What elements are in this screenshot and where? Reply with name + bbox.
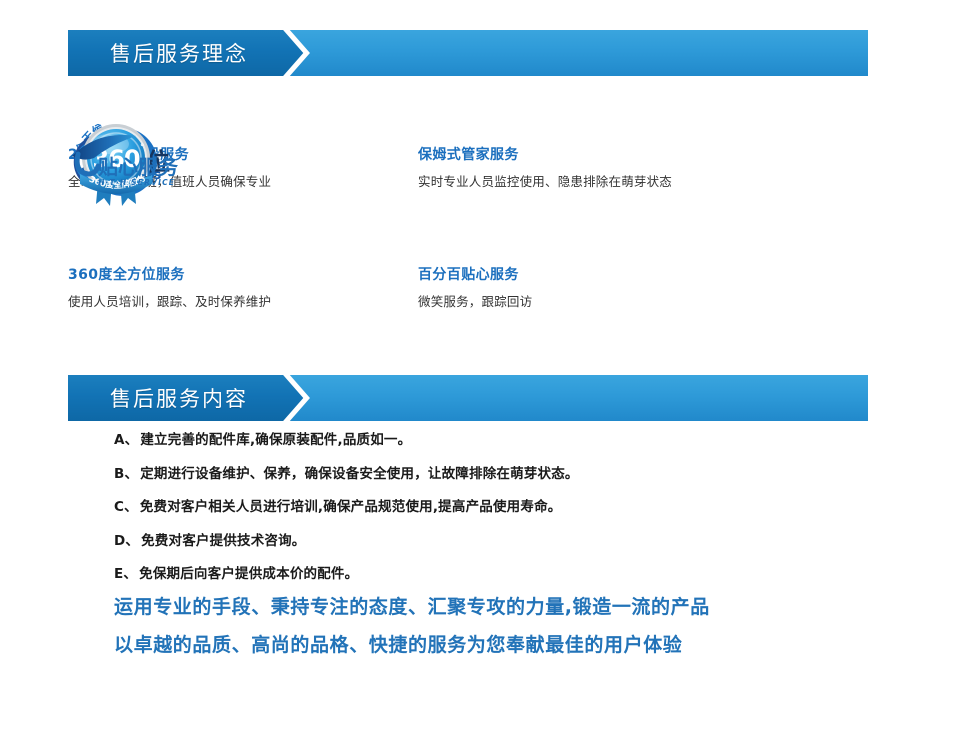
service-content-list: A、建立完善的配件库,确保原装配件,品质如一。 B、定期进行设备维护、保养，确保…: [114, 434, 814, 602]
slogan-line-1: 运用专业的手段、秉持专注的态度、汇聚专攻的力量,锻造一流的产品: [114, 598, 854, 617]
banner-left-panel: 售后服务内容: [68, 375, 268, 421]
list-item-marker: E、: [114, 566, 137, 582]
list-item: D、免费对客户提供技术咨询。: [114, 535, 814, 549]
list-item-text: 免费对客户提供技术咨询。: [141, 533, 305, 549]
list-item-marker: C、: [114, 499, 138, 515]
list-item: A、建立完善的配件库,确保原装配件,品质如一。: [114, 434, 814, 448]
list-item: C、免费对客户相关人员进行培训,确保产品规范使用,提高产品使用寿命。: [114, 501, 814, 515]
svg-text:H·T·H SERVICE: H·T·H SERVICE: [98, 178, 175, 187]
list-item: B、定期进行设备维护、保养，确保设备安全使用，让故障排除在萌芽状态。: [114, 468, 814, 482]
banner-right-panel: [310, 30, 868, 76]
logo-word: 贴心服务: [98, 155, 179, 179]
list-item-text: 建立完善的配件库,确保原装配件,品质如一。: [140, 432, 411, 448]
feature-description: 微笑服务，跟踪回访: [418, 291, 532, 310]
list-item-text: 免保期后向客户提供成本价的配件。: [139, 566, 358, 582]
feature-text-block: 保姆式管家服务 实时专业人员监控使用、隐患排除在萌芽状态: [418, 142, 672, 190]
chevron-right-icon: [268, 30, 310, 76]
feature-text-block: 360度全方位服务 使用人员培训，跟踪、及时保养维护: [68, 262, 271, 310]
feature-item: 全方位 保姆式管家服务 实时专业人员监控使用、隐患排除在萌芽状态: [418, 120, 888, 212]
section-banner-service-philosophy: 售后服务理念: [68, 30, 868, 76]
list-item-marker: A、: [114, 432, 138, 448]
slogan-line-2: 以卓越的品质、高尚的品格、快捷的服务为您奉献最佳的用户体验: [114, 636, 854, 655]
feature-item: 360 ° 360度全牌服务 360度全方位服务 使用人员培训，跟踪、及时保养维…: [68, 240, 418, 332]
feature-title: 360度全方位服务: [68, 264, 271, 284]
banner-title: 售后服务理念: [110, 38, 248, 68]
banner-right-panel: [310, 375, 868, 421]
slogan-block: 运用专业的手段、秉持专注的态度、汇聚专攻的力量,锻造一流的产品 以卓越的品质、高…: [114, 598, 854, 674]
feature-description: 实时专业人员监控使用、隐患排除在萌芽状态: [418, 171, 672, 190]
chevron-right-icon: [268, 375, 310, 421]
feature-grid: 全天候 24 Hours 24小时全时段服务 全时段专人值班，值班人员确保专业 …: [68, 120, 888, 332]
list-item-marker: B、: [114, 466, 138, 482]
banner-left-panel: 售后服务理念: [68, 30, 268, 76]
list-item-marker: D、: [114, 533, 139, 549]
heartfelt-service-logo-icon: 贴心服务 H·T·H SERVICE: [68, 120, 188, 206]
feature-description: 使用人员培训，跟踪、及时保养维护: [68, 291, 271, 310]
feature-title: 保姆式管家服务: [418, 144, 672, 164]
feature-text-block: 百分百贴心服务 微笑服务，跟踪回访: [418, 262, 532, 310]
list-item: E、免保期后向客户提供成本价的配件。: [114, 568, 814, 582]
section-banner-service-content: 售后服务内容: [68, 375, 868, 421]
list-item-text: 定期进行设备维护、保养，确保设备安全使用，让故障排除在萌芽状态。: [140, 466, 578, 482]
list-item-text: 免费对客户相关人员进行培训,确保产品规范使用,提高产品使用寿命。: [140, 499, 562, 515]
banner-title: 售后服务内容: [110, 383, 248, 413]
feature-title: 百分百贴心服务: [418, 264, 532, 284]
feature-item: 贴心服务 H·T·H SERVICE 百分百贴心服务 微笑服务，跟踪回访: [418, 240, 888, 332]
